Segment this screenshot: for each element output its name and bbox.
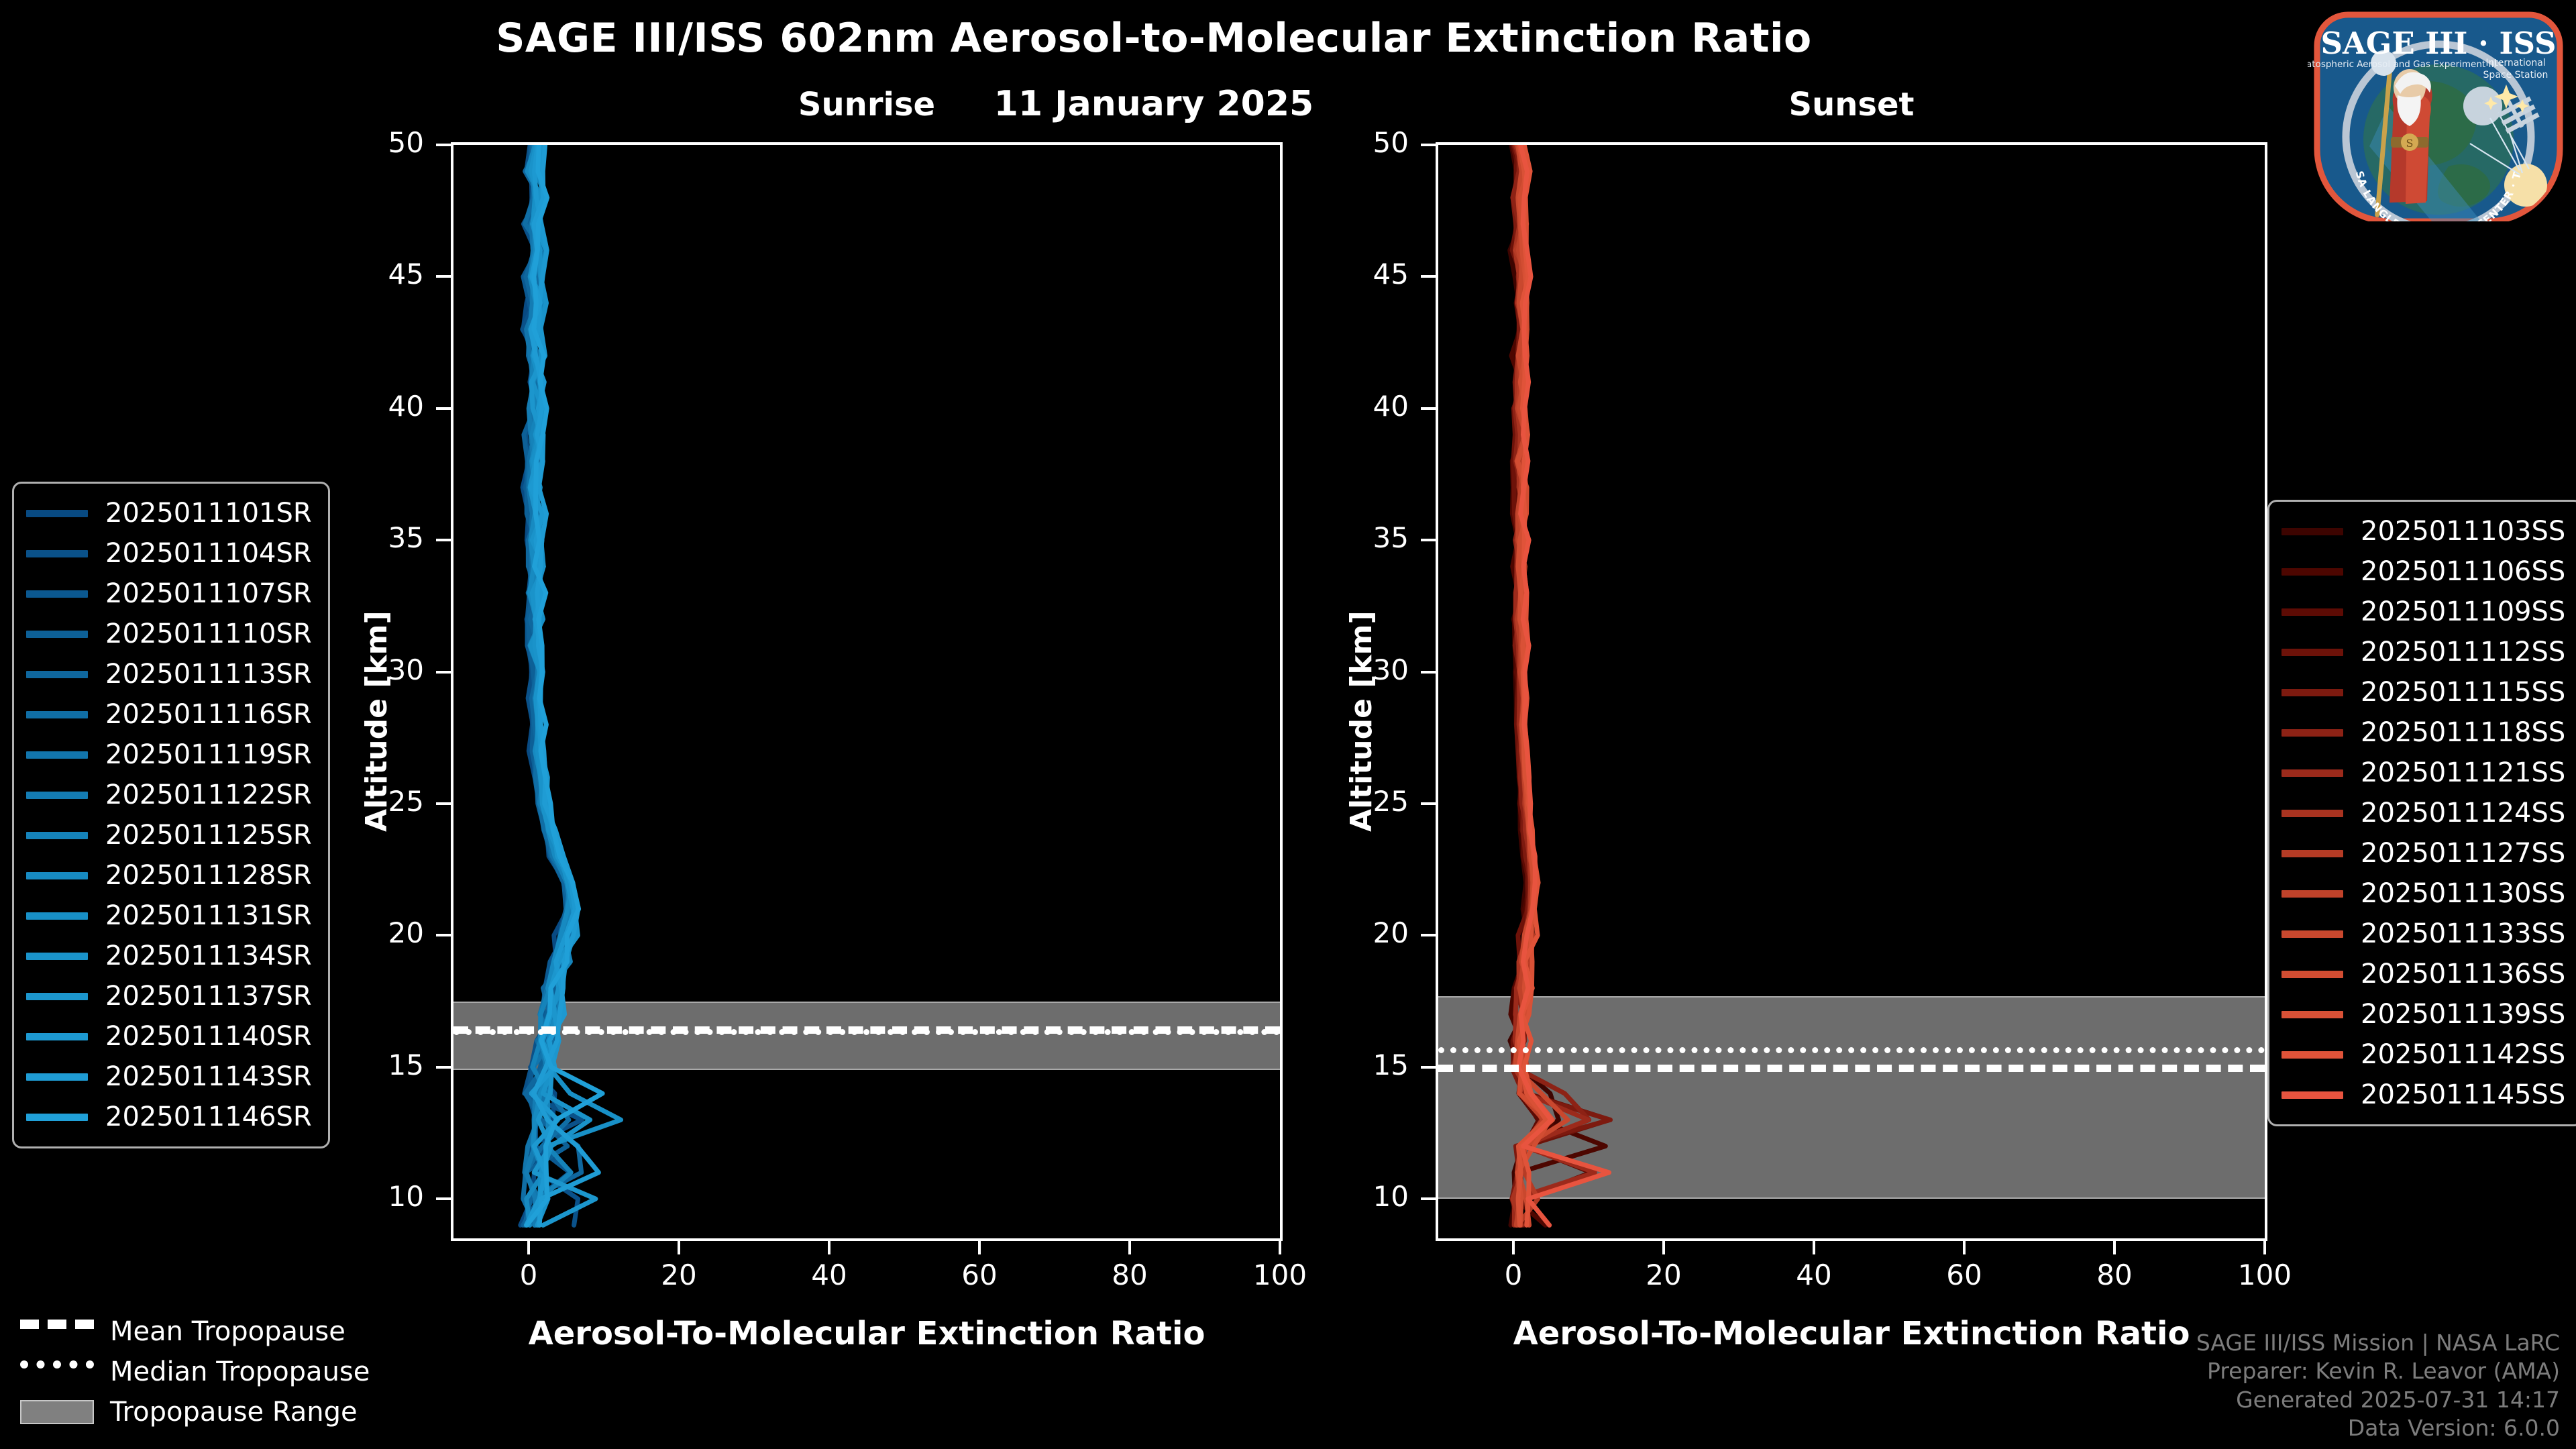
legend-label: 2025011124SS <box>2361 798 2565 828</box>
y-axis-tick-label: 35 <box>343 521 424 554</box>
legend-label-median-tropopause: Median Tropopause <box>110 1356 370 1387</box>
legend-color-swatch-icon <box>26 1073 88 1081</box>
legend-label: 2025011136SS <box>2361 959 2565 989</box>
y-axis-tick-label: 10 <box>1328 1180 1409 1213</box>
legend-item[interactable]: 2025011113SR <box>26 654 312 694</box>
x-axis-tick <box>2113 1241 2116 1254</box>
x-axis-tick <box>2263 1241 2266 1254</box>
mean-tropopause-line <box>1438 1065 2265 1072</box>
legend-color-swatch-icon <box>26 550 88 557</box>
x-axis-tick <box>1279 1241 1281 1254</box>
y-axis-tick-label: 40 <box>1328 390 1409 423</box>
y-axis-tick <box>436 144 451 146</box>
gray-band-swatch-icon <box>20 1400 94 1424</box>
legend-color-swatch-icon <box>26 671 88 678</box>
legend-color-swatch-icon <box>2282 568 2343 576</box>
legend-label-tropopause-range: Tropopause Range <box>110 1397 358 1428</box>
y-axis-tick <box>436 407 451 410</box>
x-axis-tick-label: 20 <box>625 1258 733 1291</box>
legend-label: 2025011109SS <box>2361 596 2565 627</box>
legend-label: 2025011113SR <box>105 659 312 690</box>
legend-item[interactable]: 2025011122SR <box>26 775 312 815</box>
legend-label: 2025011128SR <box>105 860 312 891</box>
legend-color-swatch-icon <box>26 1114 88 1121</box>
legend-item[interactable]: 2025011146SR <box>26 1097 312 1137</box>
legend-color-swatch-icon <box>26 631 88 638</box>
legend-item[interactable]: 2025011121SS <box>2282 753 2565 793</box>
logo-subtitle-left: Stratospheric Aerosol and Gas Experiment… <box>2308 59 2496 70</box>
plot-area-sunrise <box>453 145 1280 1238</box>
legend-item-median-tropopause: Median Tropopause <box>20 1352 370 1392</box>
plot-sunrise <box>451 142 1283 1241</box>
legend-sunrise[interactable]: 2025011101SR2025011104SR2025011107SR2025… <box>12 482 330 1148</box>
x-axis-tick-label: 80 <box>2061 1258 2168 1291</box>
footer-line-mission: SAGE III/ISS Mission | NASA LaRC <box>2196 1329 2560 1357</box>
legend-item[interactable]: 2025011142SS <box>2282 1034 2565 1075</box>
legend-item[interactable]: 2025011104SR <box>26 533 312 574</box>
y-axis-tick-label: 50 <box>1328 126 1409 159</box>
logo-title: SAGE III · ISS <box>2320 25 2556 61</box>
legend-label: 2025011134SR <box>105 941 312 971</box>
legend-item-mean-tropopause: Mean Tropopause <box>20 1311 370 1352</box>
x-axis-tick-label: 0 <box>1460 1258 1567 1291</box>
legend-item[interactable]: 2025011112SS <box>2282 632 2565 672</box>
x-axis-tick-label: 0 <box>475 1258 582 1291</box>
legend-label: 2025011140SR <box>105 1021 312 1052</box>
y-axis-tick-label: 45 <box>343 258 424 290</box>
legend-color-swatch-icon <box>2282 1011 2343 1018</box>
profile-traces <box>1438 145 2265 1238</box>
legend-label: 2025011131SR <box>105 900 312 931</box>
legend-label: 2025011110SR <box>105 619 312 649</box>
y-axis-tick-label: 15 <box>343 1049 424 1081</box>
x-axis-tick-label: 100 <box>2211 1258 2318 1291</box>
y-axis-tick <box>436 539 451 541</box>
legend-color-swatch-icon <box>2282 971 2343 978</box>
legend-color-swatch-icon <box>26 912 88 920</box>
legend-label: 2025011143SR <box>105 1061 312 1092</box>
sage-iii-iss-mission-patch-logo: S BALL · NASA LANGLEY RESEARCH CENTER · … <box>2308 5 2569 221</box>
y-axis-tick-label: 40 <box>343 390 424 423</box>
legend-label: 2025011106SS <box>2361 556 2565 587</box>
legend-color-swatch-icon <box>2282 1051 2343 1059</box>
y-axis-tick <box>1421 1066 1436 1069</box>
x-axis-tick-label: 80 <box>1076 1258 1183 1291</box>
y-axis-tick <box>436 275 451 278</box>
y-axis-tick <box>1421 671 1436 674</box>
median-tropopause-line <box>453 1029 1280 1035</box>
x-axis-tick <box>1813 1241 1815 1254</box>
legend-color-swatch-icon <box>26 590 88 598</box>
legend-color-swatch-icon <box>26 832 88 839</box>
legend-color-swatch-icon <box>26 792 88 799</box>
legend-item[interactable]: 2025011140SR <box>26 1016 312 1057</box>
legend-color-swatch-icon <box>26 872 88 879</box>
profile-line <box>1519 145 1609 1225</box>
x-axis-tick <box>978 1241 981 1254</box>
legend-item[interactable]: 2025011134SR <box>26 936 312 976</box>
legend-item[interactable]: 2025011106SS <box>2282 551 2565 592</box>
legend-label: 2025011104SR <box>105 538 312 569</box>
legend-label: 2025011103SS <box>2361 516 2565 547</box>
dotted-line-icon <box>20 1360 94 1383</box>
y-axis-tick-label: 15 <box>1328 1049 1409 1081</box>
legend-label: 2025011139SS <box>2361 999 2565 1030</box>
y-axis-tick <box>436 802 451 805</box>
legend-label: 2025011125SR <box>105 820 312 851</box>
plot-sunset <box>1436 142 2267 1241</box>
legend-item[interactable]: 2025011127SS <box>2282 833 2565 873</box>
legend-item-tropopause-range: Tropopause Range <box>20 1392 370 1432</box>
y-axis-tick-label: 20 <box>1328 916 1409 949</box>
legend-item[interactable]: 2025011116SR <box>26 694 312 735</box>
legend-label: 2025011116SR <box>105 699 312 730</box>
legend-color-swatch-icon <box>2282 649 2343 656</box>
legend-color-swatch-icon <box>2282 729 2343 737</box>
x-axis-tick-label: 60 <box>926 1258 1033 1291</box>
x-axis-tick-label: 20 <box>1610 1258 1717 1291</box>
y-axis-tick <box>436 934 451 936</box>
y-axis-tick-label: 45 <box>1328 258 1409 290</box>
legend-color-swatch-icon <box>2282 930 2343 938</box>
legend-label: 2025011101SR <box>105 498 312 529</box>
legend-color-swatch-icon <box>2282 608 2343 616</box>
y-axis-tick-label: 35 <box>1328 521 1409 554</box>
x-axis-tick-label: 60 <box>1911 1258 2018 1291</box>
legend-item[interactable]: 2025011136SS <box>2282 954 2565 994</box>
x-axis-tick <box>1963 1241 1966 1254</box>
dashed-line-icon <box>20 1320 94 1344</box>
legend-color-swatch-icon <box>2282 528 2343 535</box>
legend-color-swatch-icon <box>26 1033 88 1040</box>
legend-color-swatch-icon <box>26 953 88 960</box>
legend-label: 2025011122SR <box>105 780 312 810</box>
logo-svg: S BALL · NASA LANGLEY RESEARCH CENTER · … <box>2308 5 2569 221</box>
legend-item[interactable]: 2025011130SS <box>2282 873 2565 914</box>
footer-line-generated: Generated 2025-07-31 14:17 <box>2196 1386 2560 1414</box>
x-axis-tick <box>678 1241 680 1254</box>
legend-color-swatch-icon <box>26 711 88 718</box>
y-axis-tick <box>436 671 451 674</box>
legend-item[interactable]: 2025011118SS <box>2282 712 2565 753</box>
footer-line-data-version: Data Version: 6.0.0 <box>2196 1414 2560 1442</box>
legend-label: 2025011118SS <box>2361 717 2565 748</box>
logo-subtitle-right-line2: Space Station <box>2483 70 2548 80</box>
x-axis-tick-label: 40 <box>775 1258 883 1291</box>
footer-line-preparer: Preparer: Kevin R. Leavor (AMA) <box>2196 1357 2560 1385</box>
legend-label: 2025011127SS <box>2361 838 2565 869</box>
legend-color-swatch-icon <box>26 751 88 759</box>
legend-item[interactable]: 2025011103SS <box>2282 511 2565 551</box>
y-axis-tick <box>1421 539 1436 541</box>
legend-item[interactable]: 2025011128SR <box>26 855 312 896</box>
legend-label: 2025011112SS <box>2361 637 2565 667</box>
y-axis-tick-label: 20 <box>343 916 424 949</box>
legend-color-swatch-icon <box>2282 769 2343 777</box>
y-axis-tick <box>1421 275 1436 278</box>
x-axis-tick <box>1662 1241 1665 1254</box>
median-tropopause-line <box>1438 1047 2265 1053</box>
legend-label: 2025011145SS <box>2361 1079 2565 1110</box>
legend-item[interactable]: 2025011101SR <box>26 493 312 533</box>
legend-label: 2025011107SR <box>105 578 312 609</box>
panel-label-sunset: Sunset <box>1436 86 2267 123</box>
x-axis-tick <box>527 1241 530 1254</box>
legend-tropopause: Mean Tropopause Median Tropopause Tropop… <box>20 1311 370 1432</box>
legend-label-mean-tropopause: Mean Tropopause <box>110 1316 345 1347</box>
y-axis-tick-label: 30 <box>343 653 424 686</box>
legend-item[interactable]: 2025011124SS <box>2282 793 2565 833</box>
legend-color-swatch-icon <box>26 993 88 1000</box>
legend-item[interactable]: 2025011115SS <box>2282 672 2565 712</box>
page-title: SAGE III/ISS 602nm Aerosol-to-Molecular … <box>0 15 2308 62</box>
legend-item[interactable]: 2025011109SS <box>2282 592 2565 632</box>
y-axis-tick <box>436 1197 451 1200</box>
y-axis-tick-label: 10 <box>343 1180 424 1213</box>
x-axis-title-sunset: Aerosol-To-Molecular Extinction Ratio <box>1436 1315 2267 1352</box>
legend-color-swatch-icon <box>2282 1091 2343 1099</box>
legend-label: 2025011133SS <box>2361 918 2565 949</box>
plot-area-sunset <box>1438 145 2265 1238</box>
legend-label: 2025011137SR <box>105 981 312 1012</box>
legend-item[interactable]: 2025011137SR <box>26 976 312 1016</box>
x-axis-tick-label: 40 <box>1760 1258 1868 1291</box>
y-axis-tick-label: 25 <box>1328 785 1409 818</box>
x-axis-title-sunrise: Aerosol-To-Molecular Extinction Ratio <box>451 1315 1283 1352</box>
panel-label-sunrise: Sunrise <box>451 86 1283 123</box>
legend-item[interactable]: 2025011145SS <box>2282 1075 2565 1115</box>
legend-color-swatch-icon <box>2282 850 2343 857</box>
legend-sunset[interactable]: 2025011103SS2025011106SS2025011109SS2025… <box>2267 500 2576 1126</box>
x-axis-tick <box>1128 1241 1131 1254</box>
legend-item[interactable]: 2025011133SS <box>2282 914 2565 954</box>
x-axis-tick <box>1512 1241 1515 1254</box>
footer-credits: SAGE III/ISS Mission | NASA LaRC Prepare… <box>2196 1329 2560 1442</box>
legend-label: 2025011121SS <box>2361 757 2565 788</box>
legend-item[interactable]: 2025011139SS <box>2282 994 2565 1034</box>
legend-label: 2025011130SS <box>2361 878 2565 909</box>
legend-color-swatch-icon <box>2282 890 2343 898</box>
y-axis-tick-label: 30 <box>1328 653 1409 686</box>
legend-label: 2025011115SS <box>2361 677 2565 708</box>
y-axis-tick-label: 25 <box>343 785 424 818</box>
legend-color-swatch-icon <box>2282 689 2343 696</box>
legend-item[interactable]: 2025011107SR <box>26 574 312 614</box>
legend-color-swatch-icon <box>2282 810 2343 817</box>
legend-label: 2025011146SR <box>105 1102 312 1132</box>
svg-text:S: S <box>2406 137 2414 150</box>
logo-subtitle-right-line1: International <box>2485 58 2545 68</box>
y-axis-tick <box>1421 1197 1436 1200</box>
legend-label: 2025011119SR <box>105 739 312 770</box>
y-axis-tick <box>1421 407 1436 410</box>
y-axis-tick-label: 50 <box>343 126 424 159</box>
legend-item[interactable]: 2025011125SR <box>26 815 312 855</box>
legend-label: 2025011142SS <box>2361 1039 2565 1070</box>
y-axis-tick <box>1421 144 1436 146</box>
legend-color-swatch-icon <box>26 510 88 517</box>
profile-traces <box>453 145 1280 1238</box>
y-axis-tick <box>1421 934 1436 936</box>
legend-item[interactable]: 2025011143SR <box>26 1057 312 1097</box>
legend-item[interactable]: 2025011110SR <box>26 614 312 654</box>
y-axis-tick <box>436 1066 451 1069</box>
x-axis-tick <box>828 1241 830 1254</box>
legend-item[interactable]: 2025011131SR <box>26 896 312 936</box>
y-axis-tick <box>1421 802 1436 805</box>
x-axis-tick-label: 100 <box>1226 1258 1334 1291</box>
legend-item[interactable]: 2025011119SR <box>26 735 312 775</box>
